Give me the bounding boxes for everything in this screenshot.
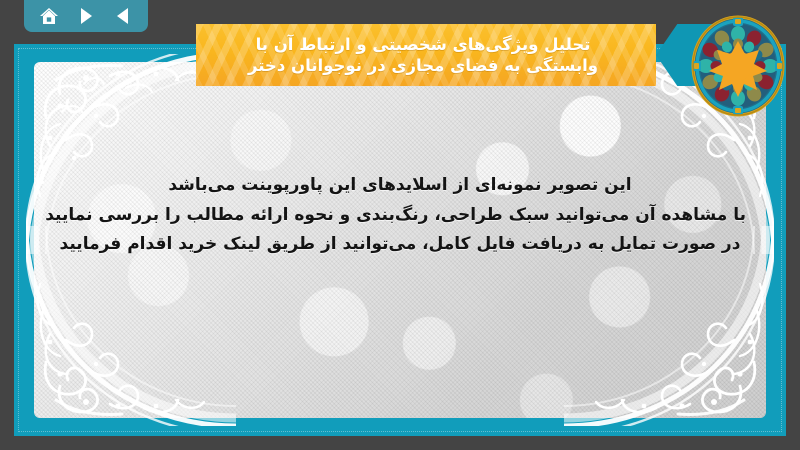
body-line-1: این تصویر نمونه‌ای از اسلایدهای این پاور… [54,172,746,200]
title-line-1: تحلیل ویژگی‌های شخصیتی و ارتباط آن با [256,34,591,55]
slide-viewer-window: این تصویر نمونه‌ای از اسلایدهای این پاور… [0,0,800,450]
banner-body: تحلیل ویژگی‌های شخصیتی و ارتباط آن با وا… [196,24,656,86]
slide-frame: این تصویر نمونه‌ای از اسلایدهای این پاور… [14,44,786,436]
slide-body-text: این تصویر نمونه‌ای از اسلایدهای این پاور… [54,172,746,259]
back-button[interactable] [110,4,136,28]
body-line-3: در صورت تمایل به دریافت فایل کامل، می‌تو… [54,231,746,259]
home-button[interactable] [36,4,62,28]
navigation-bar [24,0,148,32]
title-line-2: وابستگی به فضای مجازی در نوجوانان دختر [248,55,598,76]
triangle-right-icon [78,7,94,25]
banner-pennant-tail [656,24,738,86]
title-banner: تحلیل ویژگی‌های شخصیتی و ارتباط آن با وا… [196,24,738,86]
home-icon [39,7,59,26]
triangle-left-icon [115,7,131,25]
body-line-2: با مشاهده آن می‌توانید سبک طراحی، رنگ‌بن… [54,202,746,230]
forward-button[interactable] [73,4,99,28]
